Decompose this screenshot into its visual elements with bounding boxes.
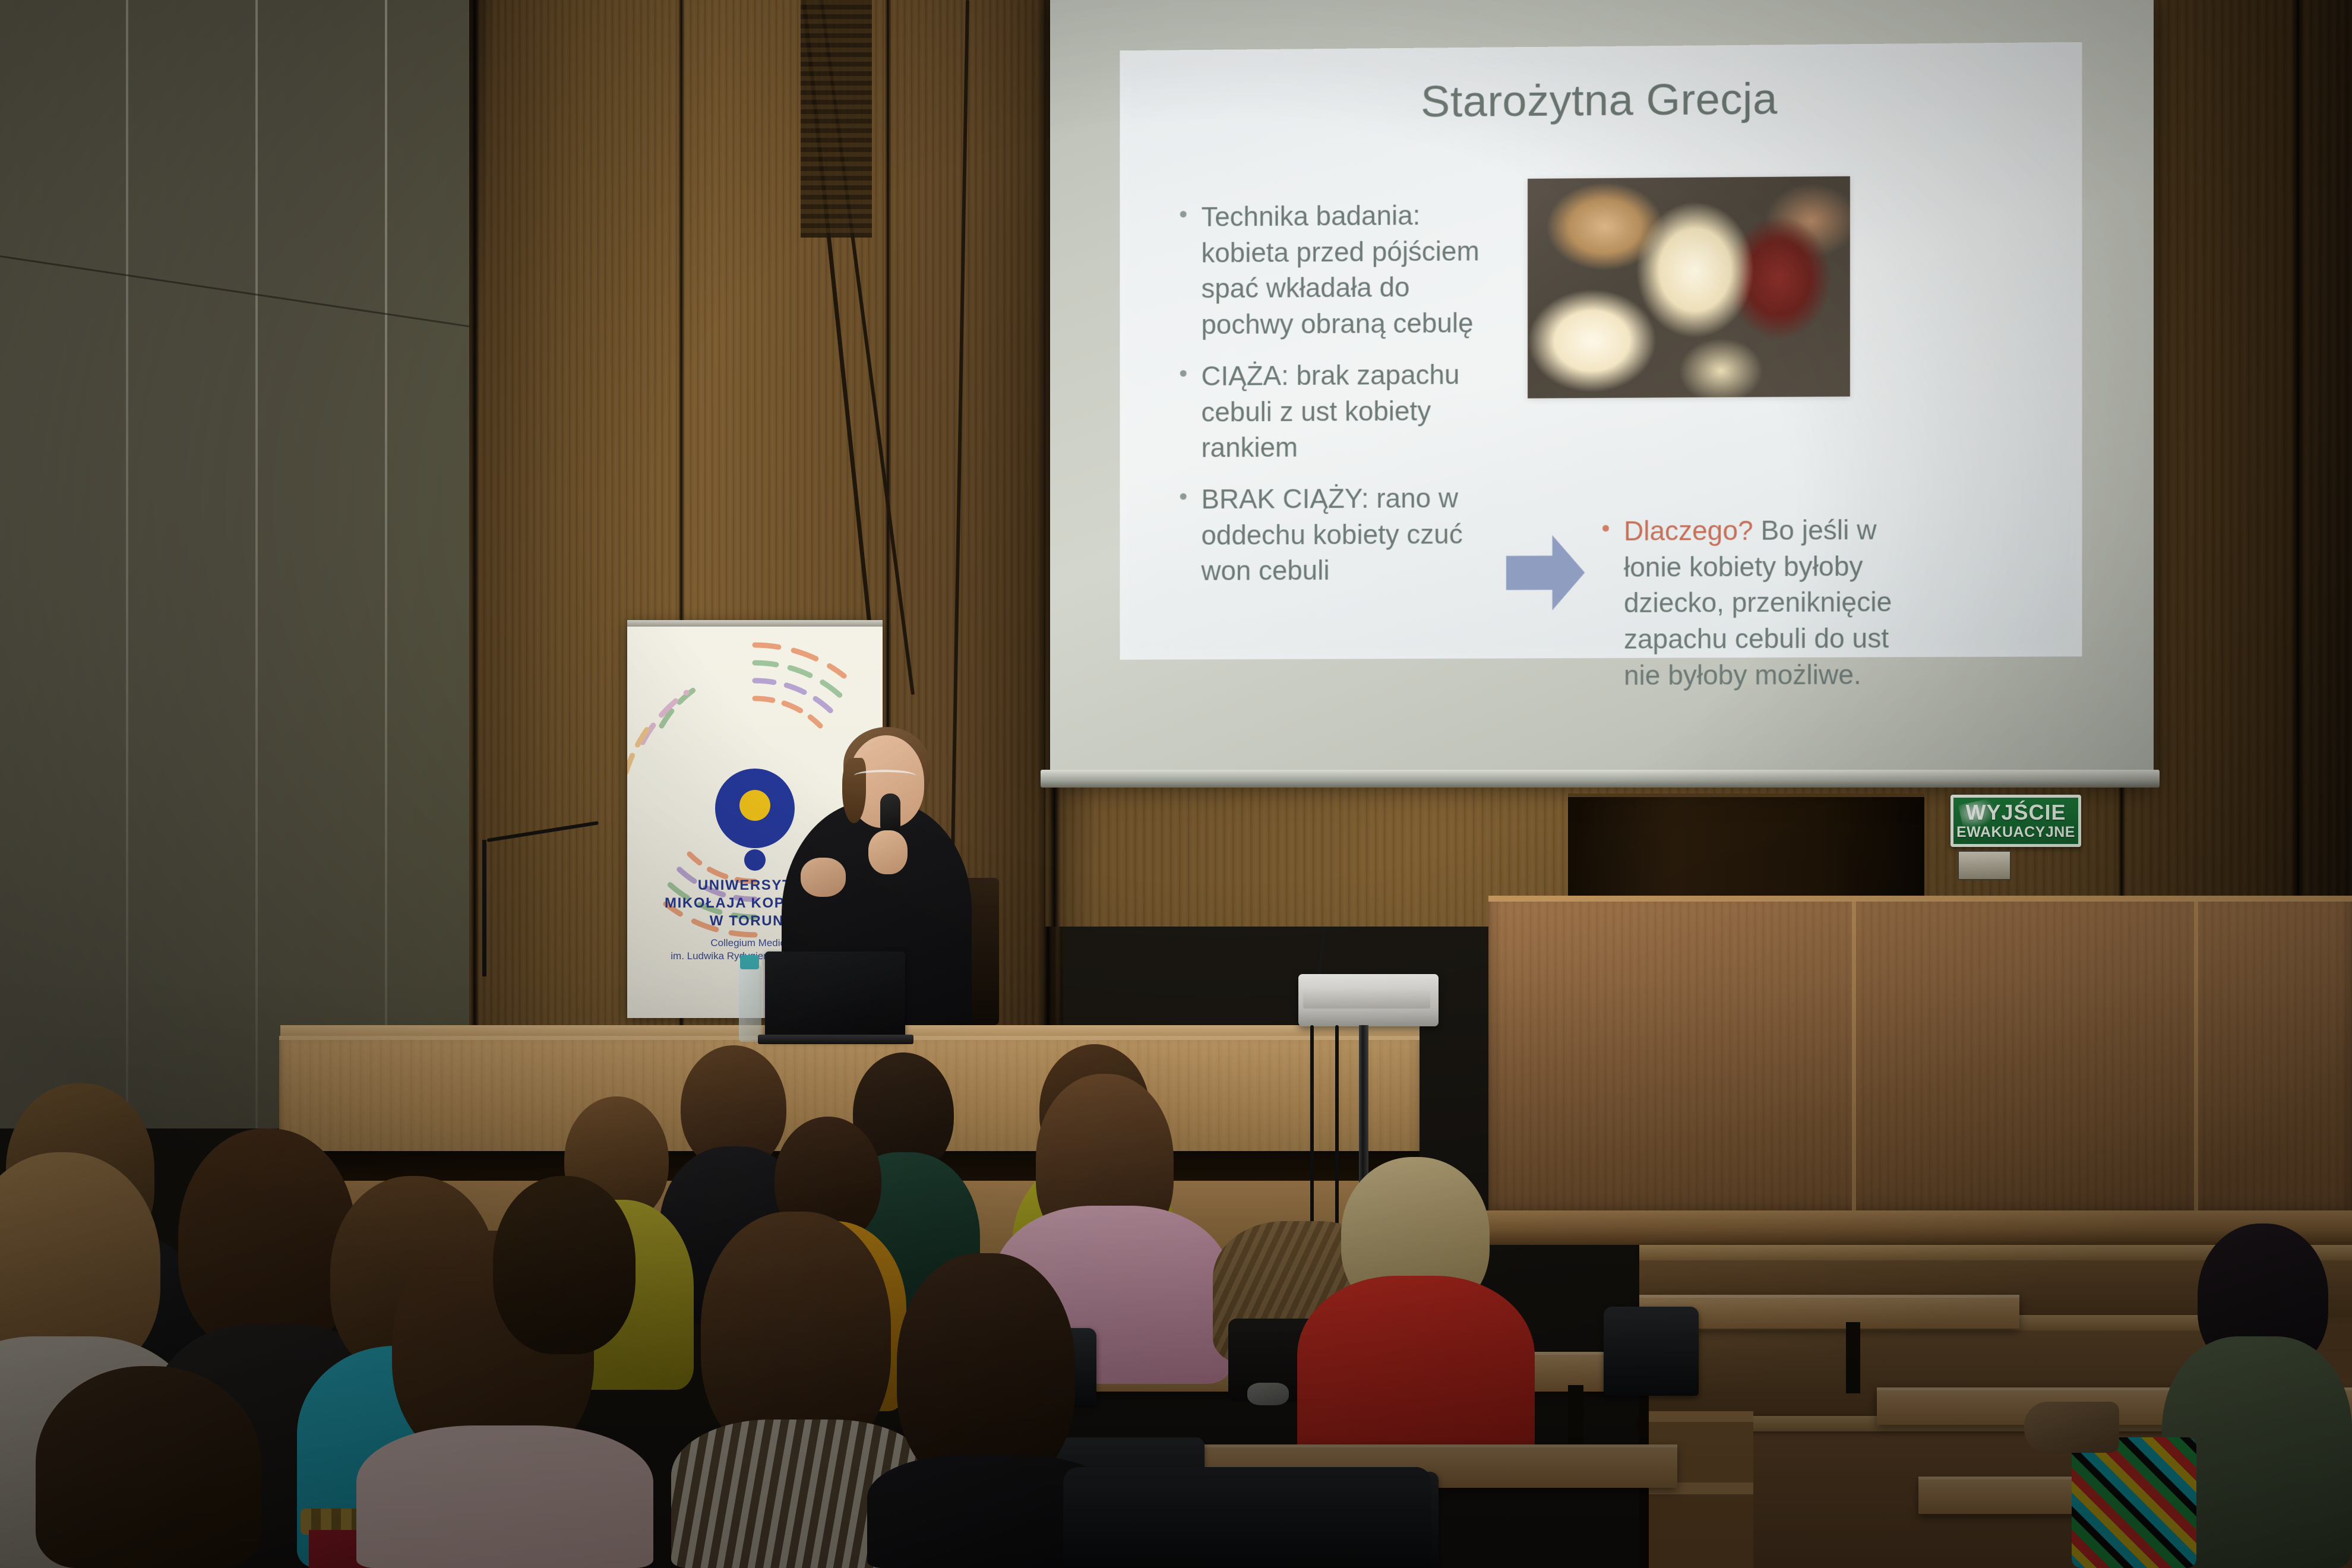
laptop-base [758, 1035, 913, 1044]
bottle-cap[interactable] [740, 955, 759, 969]
speaker-hair-side [842, 758, 866, 823]
audience-body [356, 1425, 653, 1568]
banner-logo-dot [744, 849, 766, 871]
slide-bullet: BRAK CIĄŻY: rano w oddechu kobiety czuć … [1171, 480, 1490, 589]
presenter-laptop[interactable] [765, 951, 905, 1039]
desk-leg [1568, 1385, 1583, 1450]
lecture-hall-scene: Starożytna Grecja Technika badania: kobi… [0, 0, 2352, 1568]
computer-mouse[interactable] [1247, 1383, 1289, 1405]
desk-leg [1846, 1322, 1860, 1393]
audience-seat[interactable] [1604, 1307, 1699, 1396]
podium-panel [1488, 896, 2352, 1222]
ventilation-grille [801, 0, 872, 238]
speaker-hand-right [868, 830, 908, 874]
handheld-microphone[interactable] [880, 794, 900, 835]
stair-block [1646, 1411, 1753, 1568]
water-bottle[interactable] [739, 965, 761, 1042]
audience-head [493, 1176, 636, 1354]
projector-ports [1303, 988, 1430, 1009]
mic-stand-pole [482, 840, 486, 976]
banner-logo-center [739, 790, 770, 821]
slide-highlight-text: Dlaczego? [1624, 515, 1753, 546]
audience-body [1297, 1276, 1535, 1466]
projector-antenna [1317, 928, 1326, 978]
glasses-icon [854, 770, 916, 782]
audience-head [36, 1366, 261, 1568]
audience-head [178, 1128, 356, 1354]
speaker-hand-left [801, 858, 846, 897]
onion-photo [1528, 176, 1850, 399]
presentation-slide: Starożytna Grecja Technika badania: kobi… [1120, 42, 2082, 660]
slide-bullets-left: Technika badania: kobieta przed pójściem… [1171, 197, 1490, 605]
slide-bullets-right: Dlaczego? Bo jeśli w łonie kobiety byłob… [1593, 511, 1927, 709]
screen-bottom-bar[interactable] [1041, 770, 2160, 788]
patterned-backpack[interactable] [2072, 1437, 2196, 1568]
exit-sign-line1: WYJŚCIE [1965, 802, 2066, 823]
audience-seat[interactable] [1063, 1467, 1431, 1568]
left-wall-panels [0, 0, 487, 1128]
projection-screen: Starożytna Grecja Technika badania: kobi… [1050, 0, 2154, 779]
emergency-exit-sign: WYJŚCIE EWAKUACYJNE [1950, 795, 2081, 847]
slide-bullet: CIĄŻA: brak zapachu cebuli z ust kobiety… [1171, 356, 1490, 466]
wall-plate [1958, 851, 2011, 880]
boot [2024, 1402, 2119, 1453]
slide-bullet-highlight: Dlaczego? Bo jeśli w łonie kobiety byłob… [1593, 511, 1927, 693]
slide-bullet: Technika badania: kobieta przed pójściem… [1171, 197, 1490, 343]
slide-title: Starożytna Grecja [1120, 71, 2082, 129]
right-arrow-icon [1503, 529, 1588, 617]
exit-sign-line2: EWAKUACYJNE [1956, 825, 2075, 840]
